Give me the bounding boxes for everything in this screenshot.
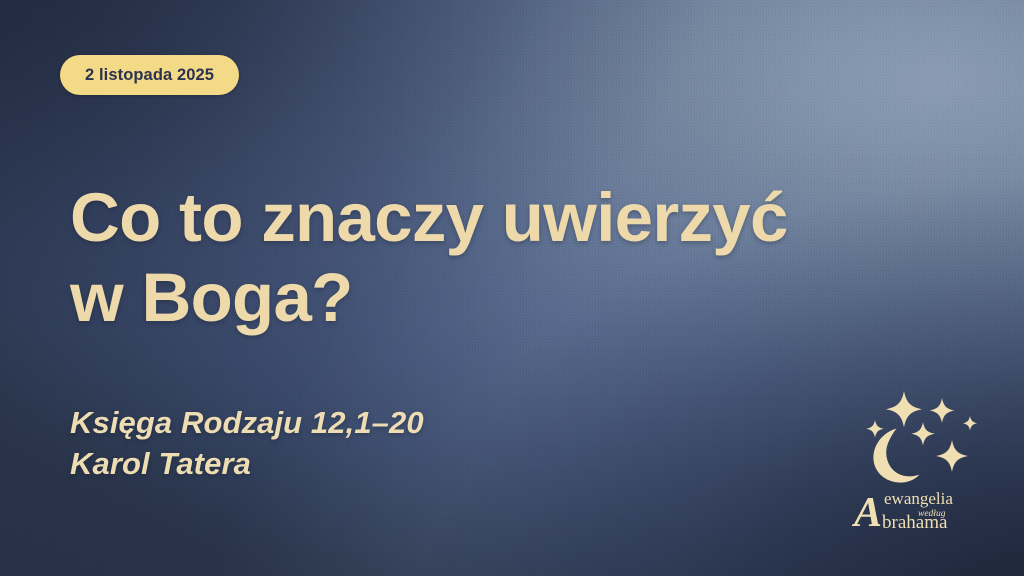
logo-word-top: ewangelia xyxy=(884,489,953,508)
brand-logo-wordmark: A ewangelia według brahama xyxy=(852,484,992,534)
logo-monogram-letter: A xyxy=(852,490,882,534)
brand-logo: A ewangelia według brahama xyxy=(852,388,992,536)
title-slide: 2 listopada 2025 Co to znaczy uwierzyć w… xyxy=(0,0,1024,576)
slide-content: 2 listopada 2025 Co to znaczy uwierzyć w… xyxy=(0,0,1024,576)
crescent-moon-and-stars-icon xyxy=(852,388,992,488)
logo-word-bottom: brahama xyxy=(882,512,948,533)
date-badge: 2 listopada 2025 xyxy=(60,55,239,95)
scripture-reference: Księga Rodzaju 12,1–20 xyxy=(70,402,770,443)
page-title: Co to znaczy uwierzyć w Boga? xyxy=(70,178,950,338)
date-badge-label: 2 listopada 2025 xyxy=(85,66,214,85)
speaker-name: Karol Tatera xyxy=(70,443,770,484)
title-line-1: Co to znaczy uwierzyć xyxy=(70,178,950,258)
subtitle: Księga Rodzaju 12,1–20 Karol Tatera xyxy=(70,402,770,484)
title-line-2: w Boga? xyxy=(70,258,950,338)
